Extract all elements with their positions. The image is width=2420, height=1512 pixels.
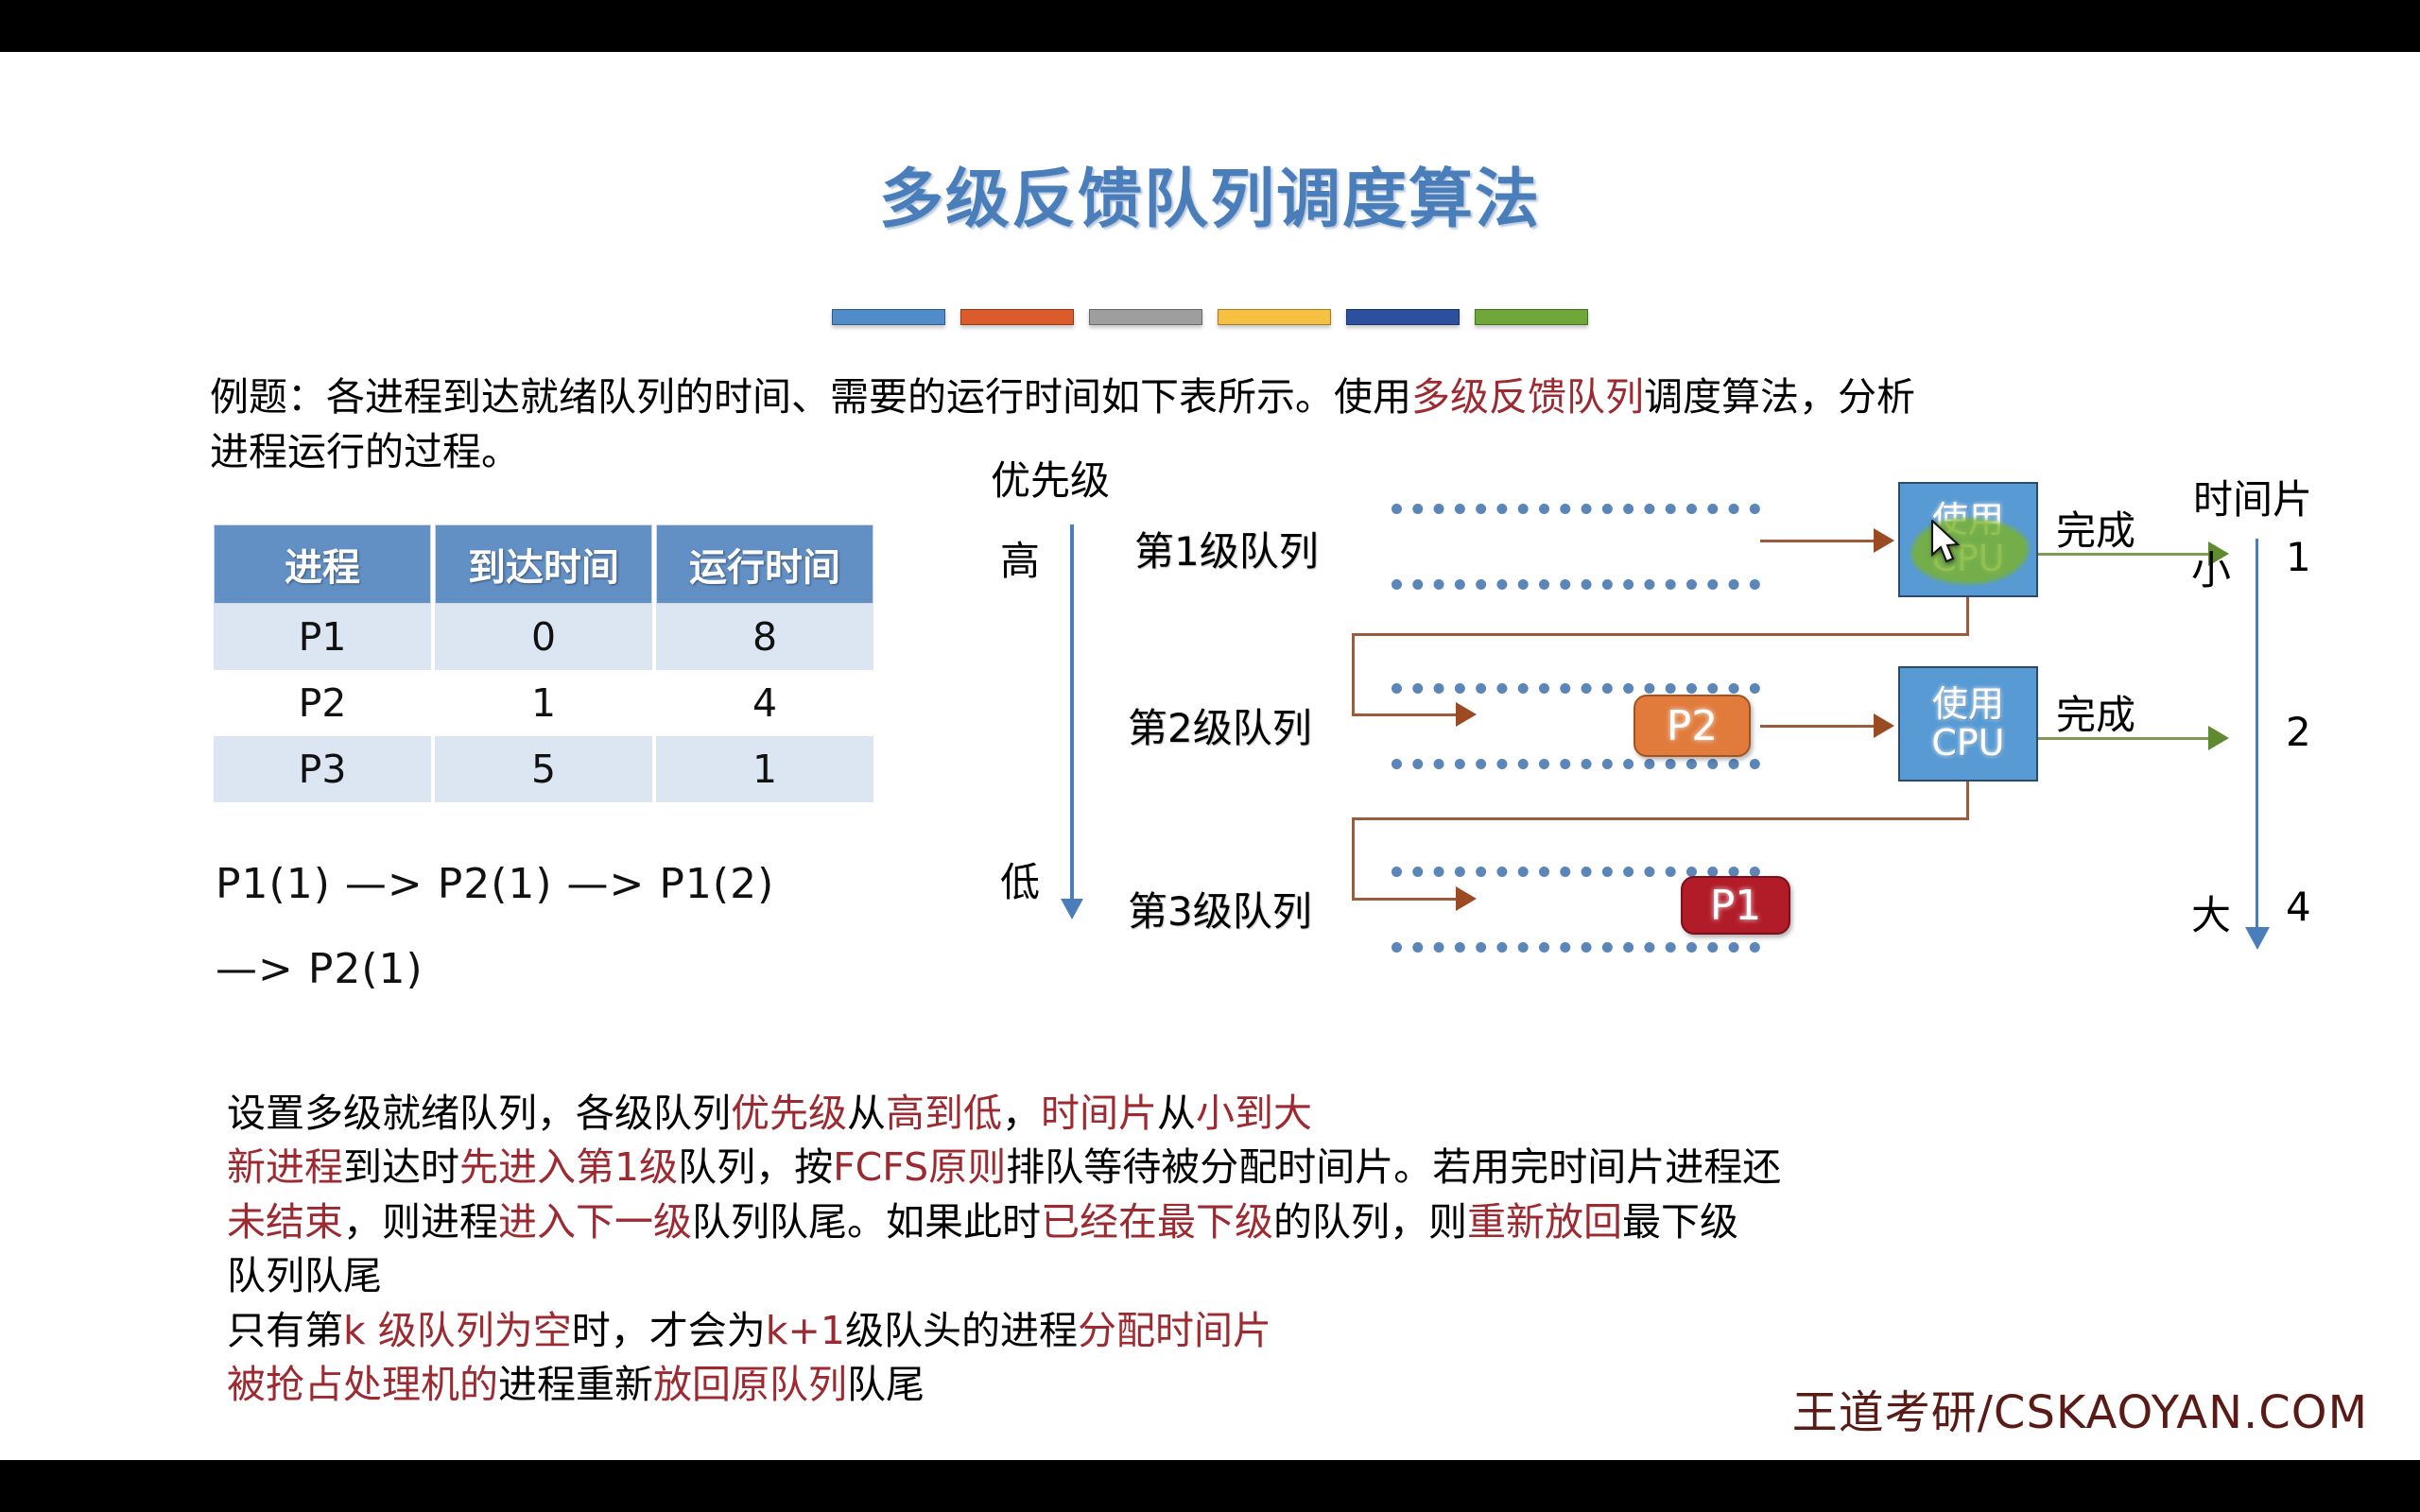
process-box-p1[interactable]: P1 — [1681, 876, 1790, 935]
lead-text-b: 调度算法，分析 — [1644, 374, 1915, 420]
cpu-box-1-label-en: CPU — [1931, 540, 2004, 578]
notes-l3-run-4: 队列队尾。如果此时 — [692, 1199, 1041, 1245]
notes-line-4: 队列队尾 — [227, 1249, 2307, 1303]
notes-l1-run-5: ， — [1002, 1091, 1041, 1136]
table-cell-r3-c1: P3 — [214, 736, 431, 802]
timeslice-small-label: 小 — [2191, 539, 2231, 596]
cpu-box-2: 使用 CPU — [1898, 666, 2038, 782]
notes-l6-run-2: 进程重新 — [498, 1362, 653, 1407]
accent-bar-5 — [1346, 309, 1460, 325]
timeslice-value-1: 1 — [2286, 534, 2311, 580]
notes-l1-run-7: 从 — [1157, 1091, 1196, 1136]
demote-2-vertical — [1352, 817, 1355, 898]
accent-bar-3 — [1089, 309, 1202, 325]
timeslice-value-3: 4 — [2286, 884, 2311, 930]
cpu-box-1: 使用 CPU — [1898, 482, 2038, 597]
done-line-1 — [2038, 553, 2208, 556]
notes-l2-run-6: 排队等待被分配时间片。若用完时间片进程还 — [1006, 1144, 1781, 1190]
queue-2-top-line — [1391, 683, 1760, 694]
green-highlight-annotation — [1911, 518, 2029, 584]
table-header-1: 进程 — [214, 524, 431, 604]
priority-axis-line — [1070, 524, 1074, 902]
table-row: P108 — [214, 604, 873, 670]
page-title: 多级反馈队列调度算法 — [0, 146, 2420, 240]
notes-l3-run-1: 未结束 — [227, 1199, 343, 1245]
table-row: P351 — [214, 736, 873, 802]
accent-bar-2 — [960, 309, 1074, 325]
notes-l2-run-1: 新进程 — [227, 1144, 343, 1190]
table-header-3: 运行时间 — [656, 524, 873, 604]
table-cell-r3-c3: 1 — [656, 736, 873, 802]
queue-1-bottom-line — [1391, 579, 1760, 590]
notes-l1-run-6: 时间片 — [1041, 1091, 1157, 1136]
accent-bar-4 — [1218, 309, 1331, 325]
notes-l5-run-3: 时，才会为 — [572, 1308, 766, 1353]
notes-l3-run-2: ，则进程 — [343, 1199, 498, 1245]
notes-line-5: 只有第k 级队列为空时，才会为k+1级队头的进程分配时间片 — [227, 1304, 2307, 1358]
notes-l5-run-6: 分配时间片 — [1078, 1308, 1271, 1353]
sequence-line-2: —> P2(1) — [216, 945, 423, 993]
timeslice-large-label: 大 — [2191, 884, 2231, 941]
notes-l5-run-5: 级队头的进程 — [845, 1308, 1078, 1353]
done-label-2: 完成 — [2056, 683, 2135, 741]
queue-1-label: 第1级队列 — [1134, 520, 1319, 577]
priority-axis-arrow-icon — [1061, 899, 1083, 919]
lead-paragraph: 例题：各进程到达就绪队列的时间、需要的运行时间如下表所示。使用多级反馈队列调度算… — [210, 369, 2271, 479]
demote-2-entry-arrow-icon — [1456, 886, 1477, 911]
accent-bar-1 — [832, 309, 945, 325]
lead-text-a: 例题：各进程到达就绪队列的时间、需要的运行时间如下表所示。使用 — [210, 374, 1411, 420]
table-row: P214 — [214, 670, 873, 736]
demote-1-vertical — [1352, 633, 1355, 713]
demote-1-entry-arrow-icon — [1456, 702, 1477, 727]
notes-l2-run-5: FCFS原则 — [833, 1144, 1006, 1190]
notes-block: 设置多级就绪队列，各级队列优先级从高到低，时间片从小到大 新进程到达时先进入第1… — [227, 1087, 2307, 1412]
priority-high-label: 高 — [1000, 529, 1040, 587]
process-box-p2[interactable]: P2 — [1633, 695, 1751, 757]
done-arrow-2-icon — [2208, 726, 2229, 750]
notes-l1-run-1: 设置多级就绪队列，各级队列 — [227, 1091, 731, 1136]
notes-l4-run-1: 队列队尾 — [227, 1253, 382, 1298]
timeslice-value-2: 2 — [2286, 709, 2311, 755]
notes-line-3: 未结束，则进程进入下一级队列队尾。如果此时已经在最下级的队列，则重新放回最下级 — [227, 1195, 2307, 1249]
queue-3-label: 第3级队列 — [1128, 880, 1312, 937]
queue-2-to-cpu-line — [1760, 725, 1874, 728]
demote-1-down-stub — [1966, 597, 1969, 635]
notes-l3-run-5: 已经在最下级 — [1041, 1199, 1273, 1245]
timeslice-axis-line — [2256, 539, 2258, 931]
notes-l5-run-4: k+1 — [766, 1308, 845, 1353]
queue-1-to-cpu-arrow-icon — [1874, 528, 1894, 553]
notes-l3-run-8: 最下级 — [1622, 1199, 1738, 1245]
queue-3-top-line — [1391, 867, 1760, 877]
priority-low-label: 低 — [1000, 850, 1040, 908]
notes-l2-run-4: 队列，按 — [678, 1144, 833, 1190]
cpu-box-2-label-en: CPU — [1931, 724, 2004, 763]
done-line-2 — [2038, 737, 2208, 740]
notes-l3-run-6: 的队列，则 — [1273, 1199, 1467, 1245]
cpu-box-2-label-cn: 使用 — [1932, 685, 2004, 724]
sequence-line-1: P1(1) —> P2(1) —> P1(2) — [216, 860, 774, 908]
demote-1-horizontal — [1352, 633, 1969, 636]
cpu-box-1-label-cn: 使用 — [1932, 501, 2004, 540]
queue-1-to-cpu-line — [1760, 540, 1874, 542]
done-label-1: 完成 — [2056, 499, 2135, 557]
accent-bar-6 — [1475, 309, 1588, 325]
notes-l1-run-3: 从 — [847, 1091, 886, 1136]
demote-2-entry-line — [1352, 898, 1456, 901]
queue-2-to-cpu-arrow-icon — [1874, 713, 1894, 738]
notes-l3-run-3: 进入下一级 — [498, 1199, 692, 1245]
demote-2-down-stub — [1966, 782, 1969, 819]
notes-l3-run-7: 重新放回 — [1467, 1199, 1622, 1245]
slide-canvas: 王道考研 多级反馈队列调度算法 例题：各进程到达就绪队列的时间、需要的运行时间如… — [0, 52, 2420, 1460]
process-table: 进程到达时间运行时间 P108P214P351 — [210, 524, 877, 802]
notes-l6-run-4: 队尾 — [847, 1362, 925, 1407]
table-cell-r1-c1: P1 — [214, 604, 431, 670]
notes-l6-run-1: 被抢占处理机的 — [227, 1362, 498, 1407]
queue-2-bottom-line — [1391, 759, 1760, 769]
table-cell-r2-c2: 1 — [435, 670, 652, 736]
notes-line-2: 新进程到达时先进入第1级队列，按FCFS原则排队等待被分配时间片。若用完时间片进… — [227, 1141, 2307, 1194]
table-cell-r1-c2: 0 — [435, 604, 652, 670]
table-header-2: 到达时间 — [435, 524, 652, 604]
table-cell-r2-c1: P2 — [214, 670, 431, 736]
accent-bar-row — [832, 309, 1588, 325]
done-arrow-1-icon — [2208, 541, 2229, 566]
notes-l6-run-3: 放回原队列 — [653, 1362, 847, 1407]
brand-label: 王道考研/CSKAOYAN.COM — [1792, 1375, 2368, 1441]
notes-l2-run-2: 到达时 — [343, 1144, 459, 1190]
queue-2-label: 第2级队列 — [1128, 696, 1312, 754]
table-cell-r1-c3: 8 — [656, 604, 873, 670]
queue-3-bottom-line — [1391, 942, 1760, 953]
timeslice-axis-arrow-icon — [2245, 927, 2270, 950]
demote-2-horizontal — [1352, 817, 1969, 820]
lead-text-highlight: 多级反馈队列 — [1411, 374, 1644, 420]
notes-l5-run-2: k 级队列为空 — [343, 1308, 572, 1353]
queue-1-top-line — [1391, 504, 1760, 514]
table-cell-r3-c2: 5 — [435, 736, 652, 802]
demote-1-entry-line — [1352, 713, 1456, 716]
lead-text-c: 进程运行的过程。 — [210, 429, 520, 474]
notes-l2-run-3: 先进入第1级 — [459, 1144, 678, 1190]
screen-root: 王道考研 多级反馈队列调度算法 例题：各进程到达就绪队列的时间、需要的运行时间如… — [0, 0, 2420, 1512]
table-header-row: 进程到达时间运行时间 — [214, 524, 873, 604]
notes-l1-run-4: 高到低 — [886, 1091, 1002, 1136]
notes-l5-run-1: 只有第 — [227, 1308, 343, 1353]
notes-line-1: 设置多级就绪队列，各级队列优先级从高到低，时间片从小到大 — [227, 1087, 2307, 1141]
table-cell-r2-c3: 4 — [656, 670, 873, 736]
notes-l1-run-2: 优先级 — [731, 1091, 847, 1136]
notes-l1-run-8: 小到大 — [1196, 1091, 1312, 1136]
